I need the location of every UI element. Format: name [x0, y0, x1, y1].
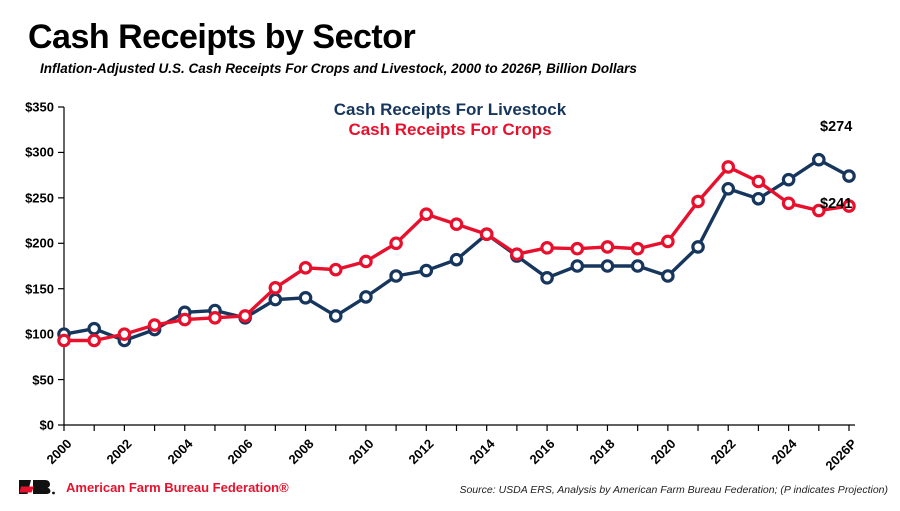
y-axis-tick-label: $100	[8, 327, 54, 342]
source-note: Source: USDA ERS, Analysis by American F…	[459, 484, 888, 496]
y-axis-tick-label: $350	[8, 100, 54, 115]
livestock-end-value-label: $274	[820, 119, 852, 135]
afbf-logo-icon	[18, 477, 58, 497]
y-axis-tick-label: $300	[8, 145, 54, 160]
y-axis-tick-label: $0	[8, 418, 54, 433]
chart-plot-area: $0$50$100$150$200$250$300$35020002002200…	[0, 0, 900, 506]
afbf-branding: American Farm Bureau Federation®	[18, 477, 289, 497]
y-axis-tick-label: $150	[8, 281, 54, 296]
chart-page: Cash Receipts by Sector Inflation-Adjust…	[0, 0, 900, 506]
footer-divider	[0, 466, 900, 467]
y-axis-tick-label: $200	[8, 236, 54, 251]
crops-end-value-label: $241	[820, 196, 852, 212]
y-axis-tick-label: $50	[8, 372, 54, 387]
line-chart-svg	[0, 0, 900, 506]
y-axis-tick-label: $250	[8, 190, 54, 205]
afbf-org-name: American Farm Bureau Federation®	[66, 480, 289, 495]
